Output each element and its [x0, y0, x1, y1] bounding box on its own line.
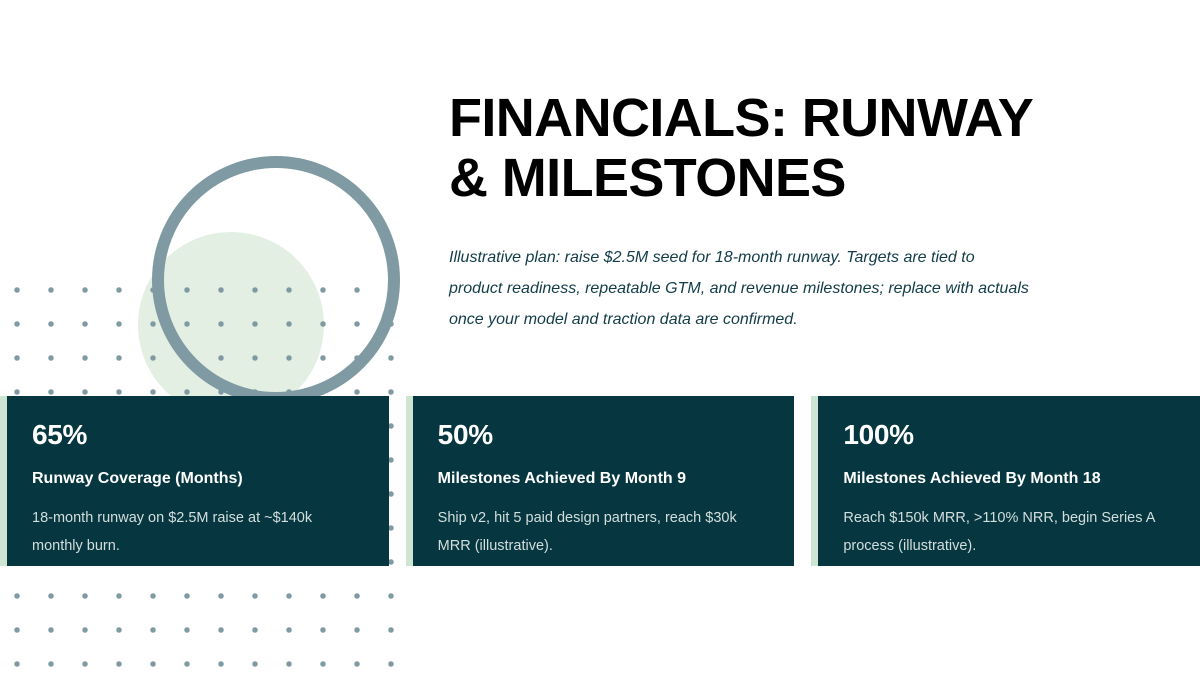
slate-ring-outline-shape — [152, 156, 400, 404]
page-title: FINANCIALS: RUNWAY & MILESTONES — [449, 88, 1069, 208]
metric-card-milestones-month-18: 100% Milestones Achieved By Month 18 Rea… — [811, 396, 1200, 566]
metric-card-label: Milestones Achieved By Month 9 — [438, 468, 769, 489]
metric-card-description: Reach $150k MRR, >110% NRR, begin Series… — [843, 504, 1174, 560]
metric-card-milestones-month-9: 50% Milestones Achieved By Month 9 Ship … — [406, 396, 795, 566]
header-block: FINANCIALS: RUNWAY & MILESTONES Illustra… — [449, 88, 1069, 335]
metric-card-label: Runway Coverage (Months) — [32, 468, 363, 489]
slide-financials-runway-milestones: FINANCIALS: RUNWAY & MILESTONES Illustra… — [0, 0, 1200, 675]
metric-card-stat: 100% — [843, 418, 1174, 452]
metric-card-description: Ship v2, hit 5 paid design partners, rea… — [438, 504, 769, 560]
metric-card-label: Milestones Achieved By Month 18 — [843, 468, 1174, 489]
page-subtitle: Illustrative plan: raise $2.5M seed for … — [449, 242, 1029, 335]
metric-card-runway-coverage: 65% Runway Coverage (Months) 18-month ru… — [0, 396, 389, 566]
mint-circle-shape — [138, 232, 324, 418]
metric-card-stat: 50% — [438, 418, 769, 452]
metric-card-stat: 65% — [32, 418, 363, 452]
metric-card-description: 18-month runway on $2.5M raise at ~$140k… — [32, 504, 363, 560]
metric-cards-row: 65% Runway Coverage (Months) 18-month ru… — [0, 396, 1200, 566]
